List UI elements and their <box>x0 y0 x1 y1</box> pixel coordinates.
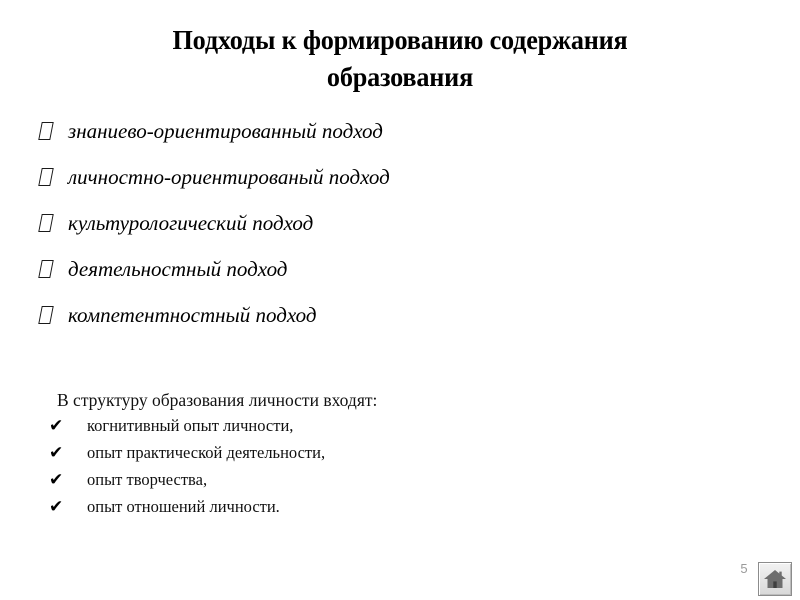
list-item: ✔ опыт практической деятельности, <box>40 440 560 467</box>
check-icon: ✔ <box>49 467 71 493</box>
home-icon <box>763 568 787 590</box>
tofu-box-bullet-icon <box>38 306 53 324</box>
list-item-label: деятельностный подход <box>68 256 287 282</box>
structure-intro-text: В структуру образования личности входят: <box>57 388 560 413</box>
page-title-line-2: образования <box>70 59 730 96</box>
tofu-box-bullet-icon <box>38 260 53 278</box>
list-item-label: когнитивный опыт личности, <box>87 413 293 439</box>
check-icon: ✔ <box>49 413 71 439</box>
tofu-box-bullet-icon <box>38 122 53 140</box>
approaches-list: знаниево-ориентированный подход личностн… <box>36 118 596 348</box>
structure-block: В структуру образования личности входят:… <box>40 388 560 521</box>
page-title-line-1: Подходы к формированию содержания <box>70 22 730 59</box>
list-item: личностно-ориентированый подход <box>36 164 596 210</box>
page-number: 5 <box>736 561 752 577</box>
tofu-box-bullet-icon <box>38 168 53 186</box>
list-item: ✔ опыт отношений личности. <box>40 494 560 521</box>
list-item: ✔ опыт творчества, <box>40 467 560 494</box>
list-item-label: личностно-ориентированый подход <box>68 164 390 190</box>
list-item: деятельностный подход <box>36 256 596 302</box>
list-item-label: опыт отношений личности. <box>87 494 280 520</box>
list-item-label: культурологический подход <box>68 210 313 236</box>
check-icon: ✔ <box>49 494 71 520</box>
list-item: знаниево-ориентированный подход <box>36 118 596 164</box>
page-title: Подходы к формированию содержания образо… <box>70 22 730 96</box>
list-item-label: компетентностный подход <box>68 302 317 328</box>
list-item-label: знаниево-ориентированный подход <box>68 118 383 144</box>
list-item-label: опыт практической деятельности, <box>87 440 325 466</box>
list-item: компетентностный подход <box>36 302 596 348</box>
check-icon: ✔ <box>49 440 71 466</box>
tofu-box-bullet-icon <box>38 214 53 232</box>
list-item-label: опыт творчества, <box>87 467 207 493</box>
list-item: культурологический подход <box>36 210 596 256</box>
home-button[interactable] <box>758 562 792 596</box>
list-item: ✔ когнитивный опыт личности, <box>40 413 560 440</box>
